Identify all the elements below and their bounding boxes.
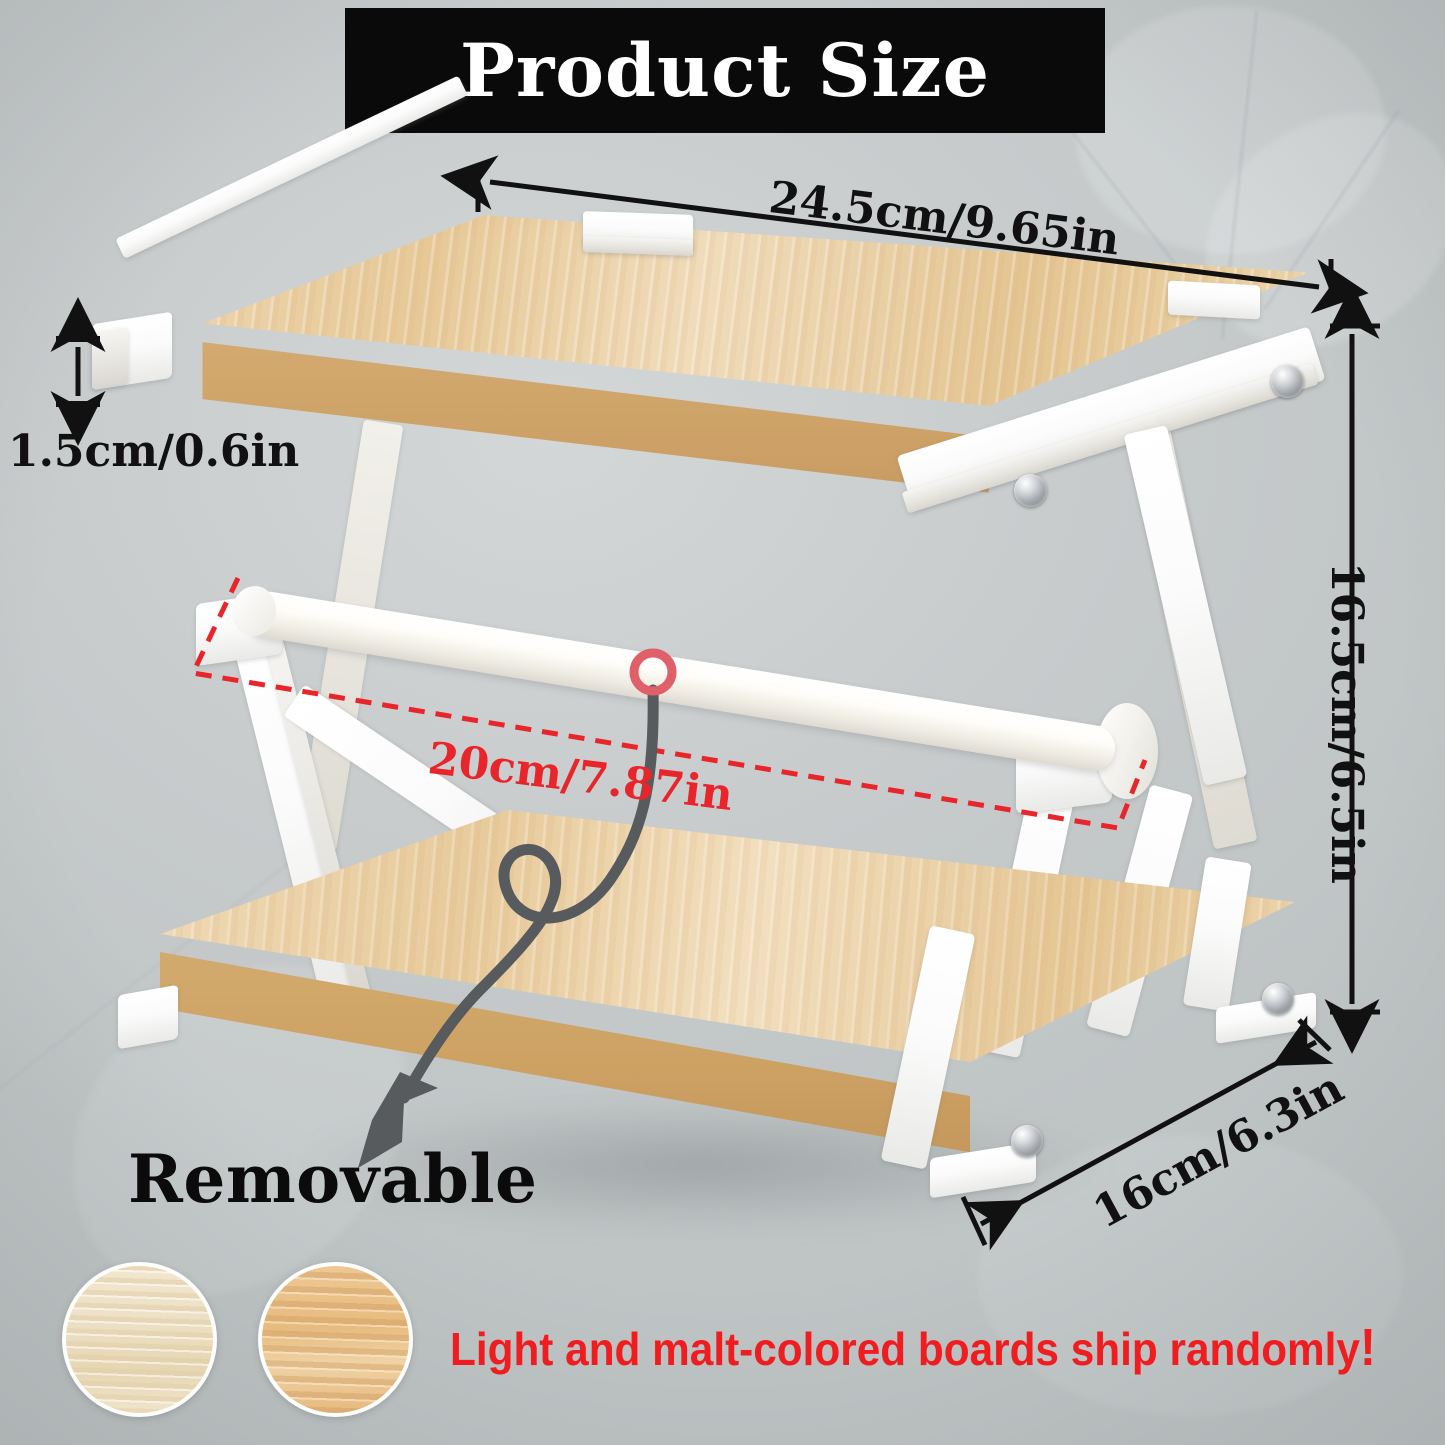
swatch-caption-text: Light and malt-colored boards ship rando… bbox=[450, 1323, 1360, 1375]
malt-wood-swatch[interactable] bbox=[258, 1262, 413, 1417]
light-wood-swatch[interactable] bbox=[62, 1262, 217, 1417]
dimension-label-height: 16.5cm/6.5in bbox=[1324, 562, 1368, 884]
swatch-caption: Light and malt-colored boards ship rando… bbox=[450, 1318, 1376, 1378]
dimension-label-thickness: 1.5cm/0.6in bbox=[8, 430, 299, 474]
product-size-infographic: Product Size bbox=[0, 0, 1445, 1445]
dimension-overlay bbox=[0, 0, 1445, 1445]
swatch-caption-exclamation: ! bbox=[1360, 1319, 1376, 1377]
removable-label: Removable bbox=[128, 1140, 538, 1218]
dimension-thickness bbox=[56, 339, 100, 404]
